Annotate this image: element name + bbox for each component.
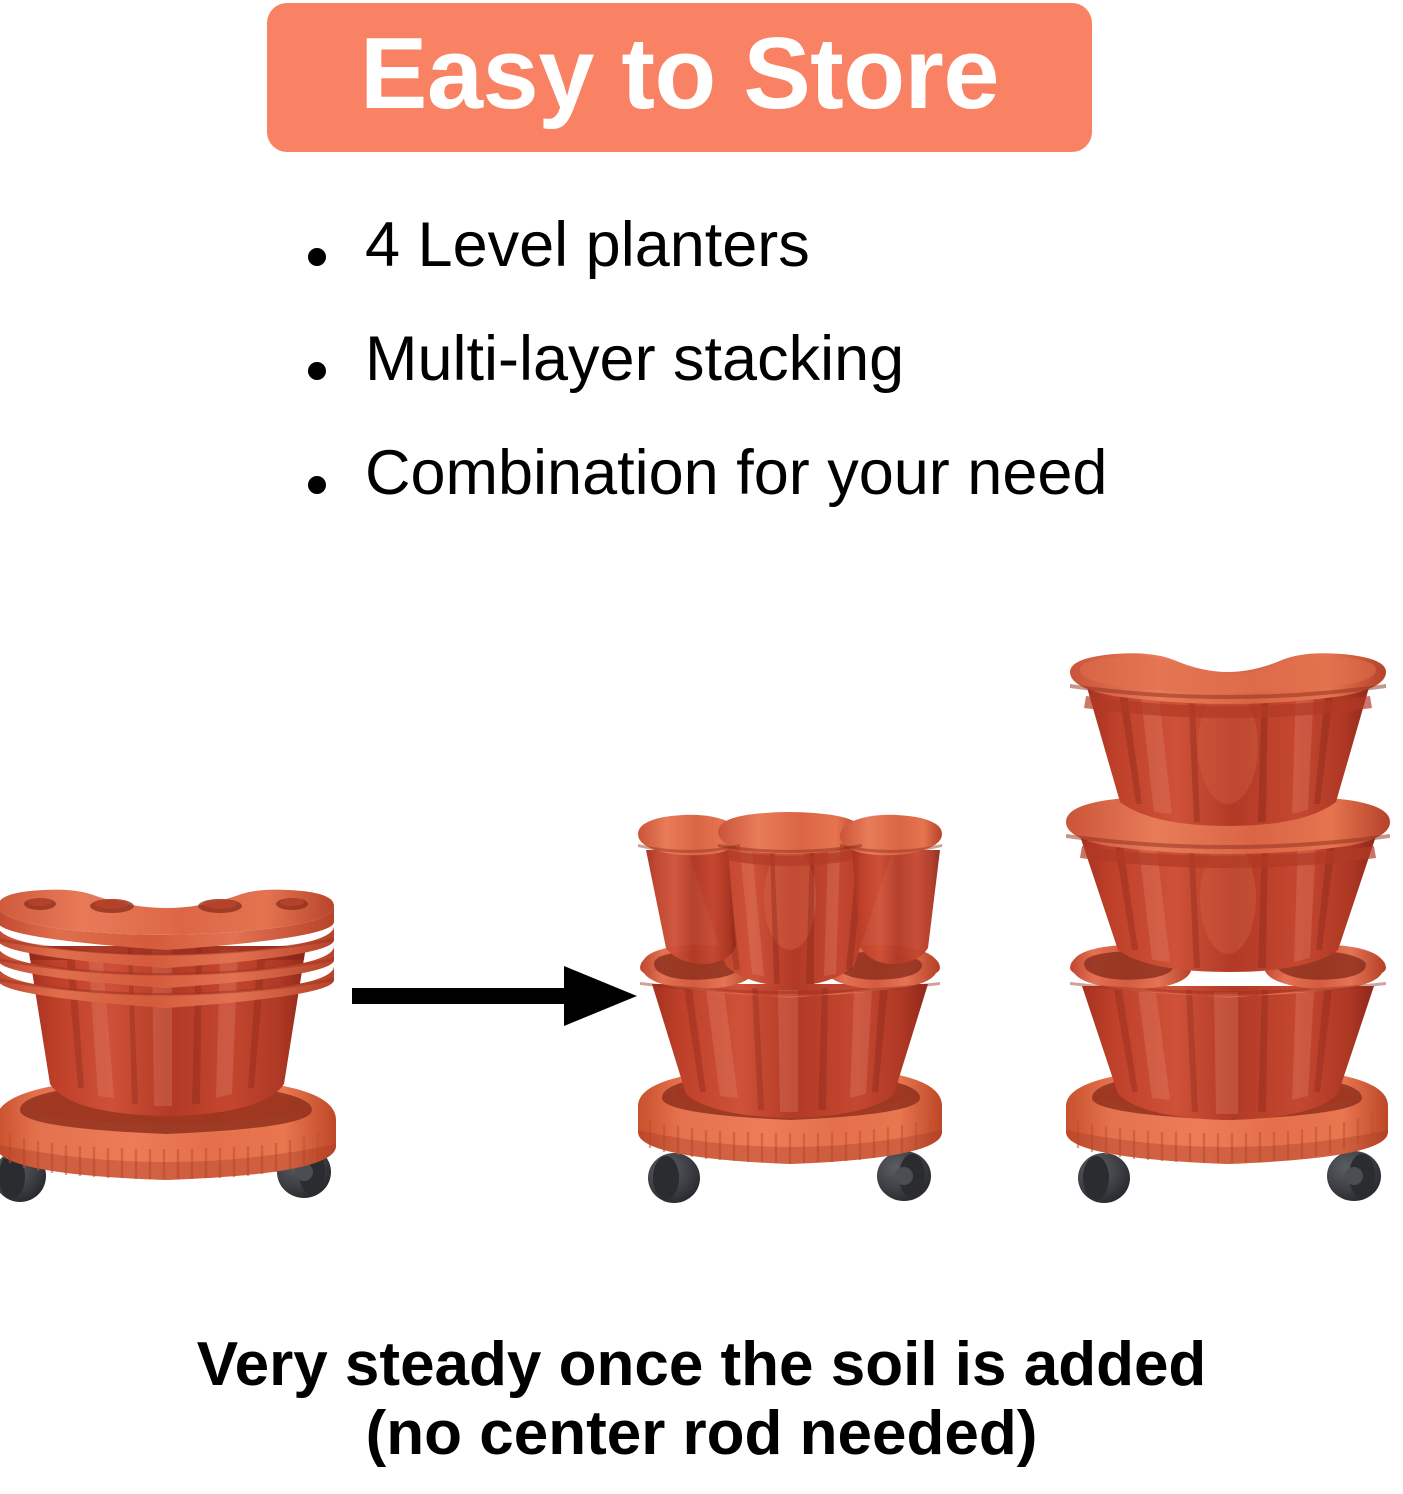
caption-line-1: Very steady once the soil is added xyxy=(0,1330,1403,1399)
caster-wheel xyxy=(1078,1153,1130,1203)
product-image-two-tier-planter xyxy=(632,806,948,1206)
right-arrow-icon xyxy=(352,960,637,1032)
list-item-label: Multi-layer stacking xyxy=(365,328,904,391)
easy-to-store-banner: Easy to Store xyxy=(267,3,1092,152)
bullet-dot-icon xyxy=(308,476,326,494)
caster-wheel xyxy=(877,1151,931,1201)
bottom-caption: Very steady once the soil is added (no c… xyxy=(0,1330,1403,1469)
feature-list: 4 Level planters Multi-layer stacking Co… xyxy=(300,196,1300,535)
list-item: Combination for your need xyxy=(300,422,1300,535)
bullet-dot-icon xyxy=(308,362,326,380)
planter-tier-upper xyxy=(638,812,942,986)
list-item-label: 4 Level planters xyxy=(365,214,810,277)
product-image-nested-planter-stack xyxy=(0,888,340,1208)
page-canvas: Easy to Store 4 Level planters Multi-lay… xyxy=(0,0,1403,1494)
caster-wheel xyxy=(648,1153,700,1203)
bullet-dot-icon xyxy=(308,248,326,266)
caption-line-2: (no center rod needed) xyxy=(0,1399,1403,1468)
banner-title: Easy to Store xyxy=(360,24,999,125)
product-image-three-tier-planter xyxy=(1056,650,1400,1206)
list-item-label: Combination for your need xyxy=(365,442,1107,505)
list-item: Multi-layer stacking xyxy=(300,309,1300,422)
list-item: 4 Level planters xyxy=(300,196,1300,309)
caster-wheel xyxy=(1327,1151,1381,1201)
